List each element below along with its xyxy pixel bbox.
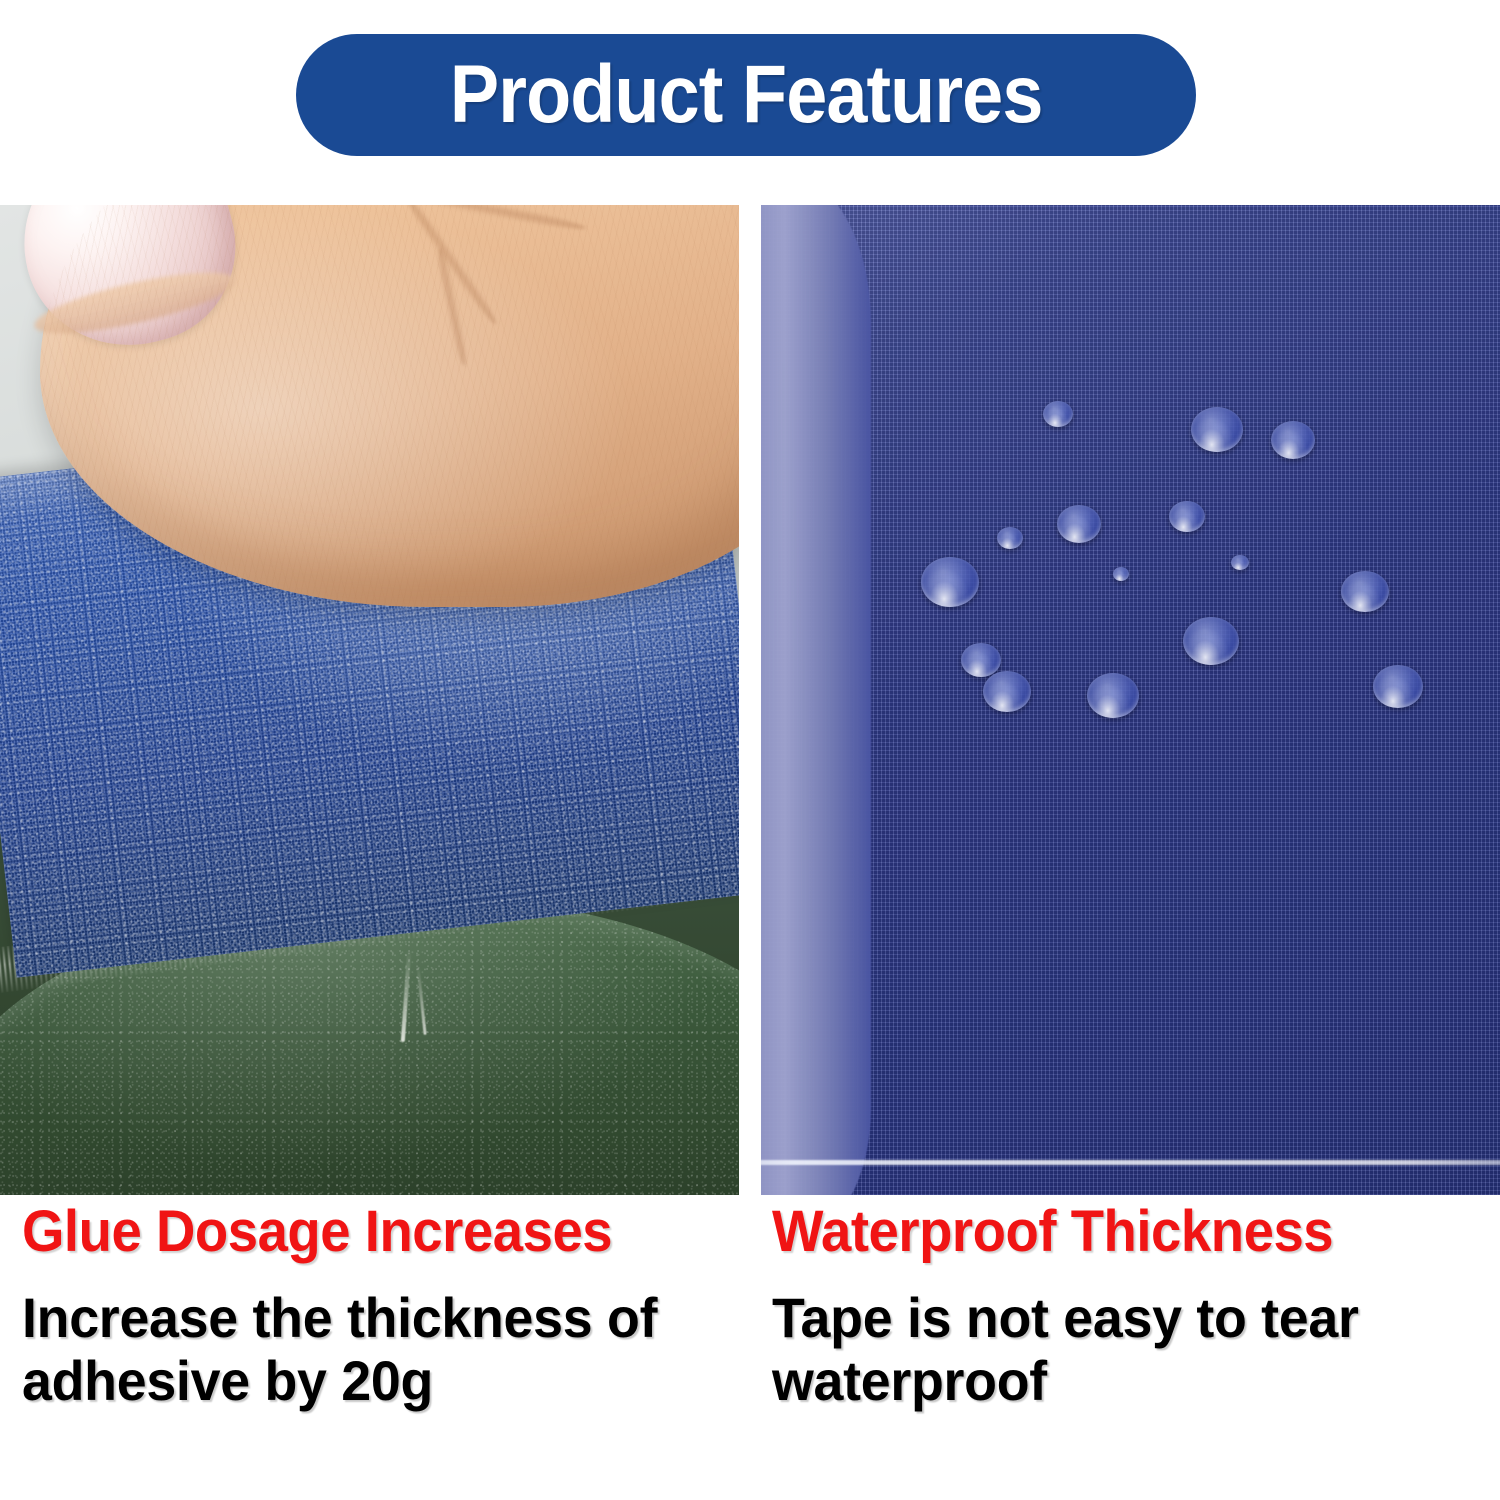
caption-heading-waterproof: Waterproof Thickness <box>772 1202 1439 1261</box>
caption-column-waterproof: Waterproof Thickness Tape is not easy to… <box>750 1202 1500 1413</box>
tape-cut-edge-highlight <box>761 1160 1500 1165</box>
caption-body-glue-dosage: Increase the thickness of adhesive by 20… <box>22 1287 704 1412</box>
page-title: Product Features <box>450 54 1043 136</box>
caption-heading-glue-dosage: Glue Dosage Increases <box>22 1202 689 1261</box>
feature-captions: Glue Dosage Increases Increase the thick… <box>0 1202 1500 1413</box>
thumbnail-cuticle-icon <box>30 260 240 345</box>
feature-photo-waterproof <box>761 205 1500 1195</box>
feature-photo-glue-dosage <box>0 205 739 1195</box>
tape-curled-edge <box>761 205 871 1195</box>
knuckle-crease-icon <box>399 205 501 328</box>
caption-body-waterproof: Tape is not easy to tear waterproof <box>772 1287 1454 1412</box>
knuckle-crease-icon <box>359 205 587 235</box>
feature-panels <box>0 205 1500 1195</box>
knuckle-crease-icon <box>434 247 471 367</box>
blue-waterproof-tape-sample <box>761 205 1500 1195</box>
caption-column-glue-dosage: Glue Dosage Increases Increase the thick… <box>0 1202 750 1413</box>
header-banner: Product Features <box>296 34 1196 156</box>
